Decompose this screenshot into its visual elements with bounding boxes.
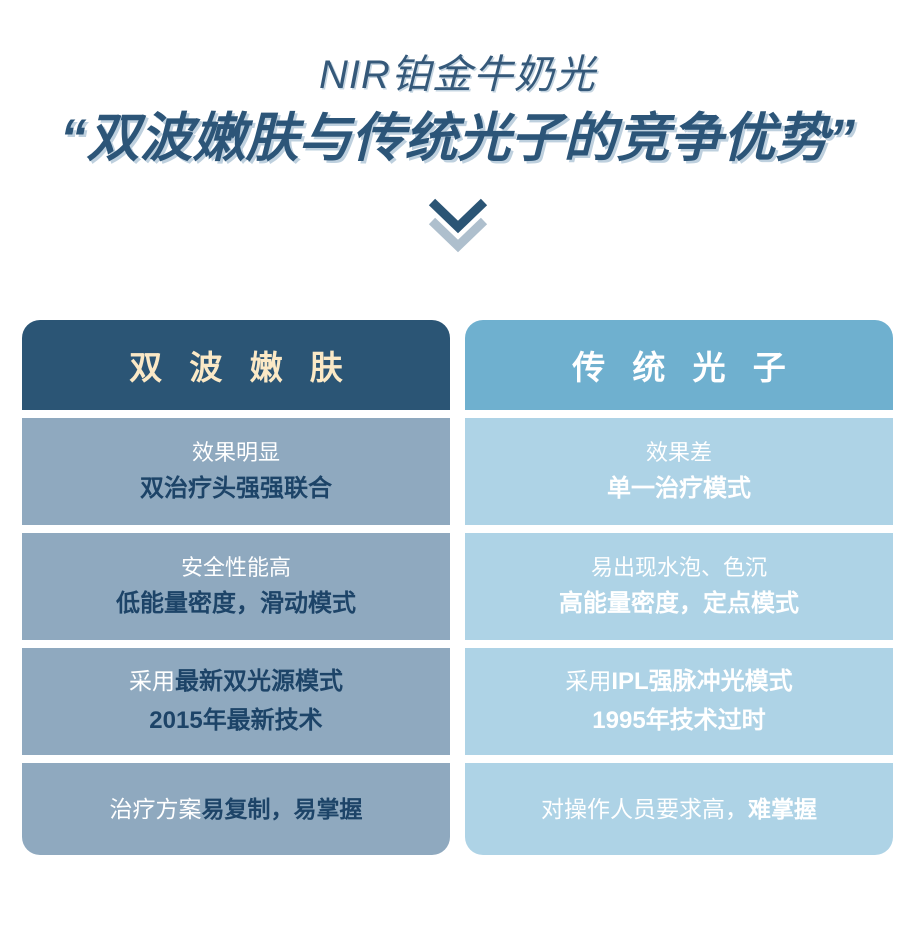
- row-bottom-text: 双治疗头强强联合: [140, 472, 332, 506]
- row-top-text: 效果差: [646, 437, 712, 468]
- table-row: 治疗方案易复制，易掌握: [22, 763, 450, 855]
- row-top-bold: 最新双光源模式: [175, 668, 343, 695]
- row-bottom-text: 单一治疗模式: [607, 472, 751, 506]
- row-bottom-text: 低能量密度，滑动模式: [116, 587, 356, 621]
- row-single-bold: 易复制，易掌握: [202, 796, 363, 822]
- row-single-text: 对操作人员要求高，难掌握: [541, 793, 817, 826]
- row-top-bold: IPL强脉冲光模式: [611, 668, 792, 695]
- row-bottom-text: 1995年技术过时: [592, 704, 765, 738]
- row-top-text: 安全性能高: [181, 552, 291, 583]
- row-single-text: 治疗方案易复制，易掌握: [110, 793, 363, 826]
- table-row: 安全性能高 低能量密度，滑动模式: [22, 533, 450, 640]
- row-top-text: 采用IPL强脉冲光模式: [565, 665, 792, 699]
- row-top-text: 采用最新双光源模式: [129, 665, 343, 699]
- comparison-table: 双 波 嫩 肤 效果明显 双治疗头强强联合 安全性能高 低能量密度，滑动模式 采…: [22, 320, 893, 855]
- chevron-wrap: [0, 189, 915, 261]
- page-subtitle: NIR铂金牛奶光: [0, 52, 915, 98]
- title-block: NIR铂金牛奶光 “双波嫩肤与传统光子的竞争优势”: [0, 0, 915, 171]
- row-single-bold: 难掌握: [748, 796, 817, 822]
- row-bottom-text: 高能量密度，定点模式: [559, 587, 799, 621]
- row-single-plain: 对操作人员要求高，: [541, 796, 748, 822]
- table-row: 采用IPL强脉冲光模式 1995年技术过时: [465, 648, 893, 755]
- table-row: 效果差 单一治疗模式: [465, 418, 893, 525]
- comparison-column-right: 传 统 光 子 效果差 单一治疗模式 易出现水泡、色沉 高能量密度，定点模式 采…: [465, 320, 893, 855]
- double-chevron-down-icon: [422, 194, 494, 256]
- row-top-plain: 采用: [565, 668, 611, 694]
- column-header-left: 双 波 嫩 肤: [22, 320, 450, 410]
- row-bottom-text: 2015年最新技术: [149, 704, 322, 738]
- row-top-plain: 采用: [129, 668, 175, 694]
- table-row: 易出现水泡、色沉 高能量密度，定点模式: [465, 533, 893, 640]
- table-row: 采用最新双光源模式 2015年最新技术: [22, 648, 450, 755]
- row-top-text: 效果明显: [192, 437, 280, 468]
- table-row: 对操作人员要求高，难掌握: [465, 763, 893, 855]
- row-top-text: 易出现水泡、色沉: [591, 552, 767, 583]
- row-single-plain: 治疗方案: [110, 796, 202, 822]
- column-header-right: 传 统 光 子: [465, 320, 893, 410]
- comparison-column-left: 双 波 嫩 肤 效果明显 双治疗头强强联合 安全性能高 低能量密度，滑动模式 采…: [22, 320, 450, 855]
- page-title: “双波嫩肤与传统光子的竞争优势”: [0, 108, 915, 171]
- comparison-infographic-page: NIR铂金牛奶光 “双波嫩肤与传统光子的竞争优势” 双 波 嫩 肤 效果明显 双…: [0, 0, 915, 939]
- table-row: 效果明显 双治疗头强强联合: [22, 418, 450, 525]
